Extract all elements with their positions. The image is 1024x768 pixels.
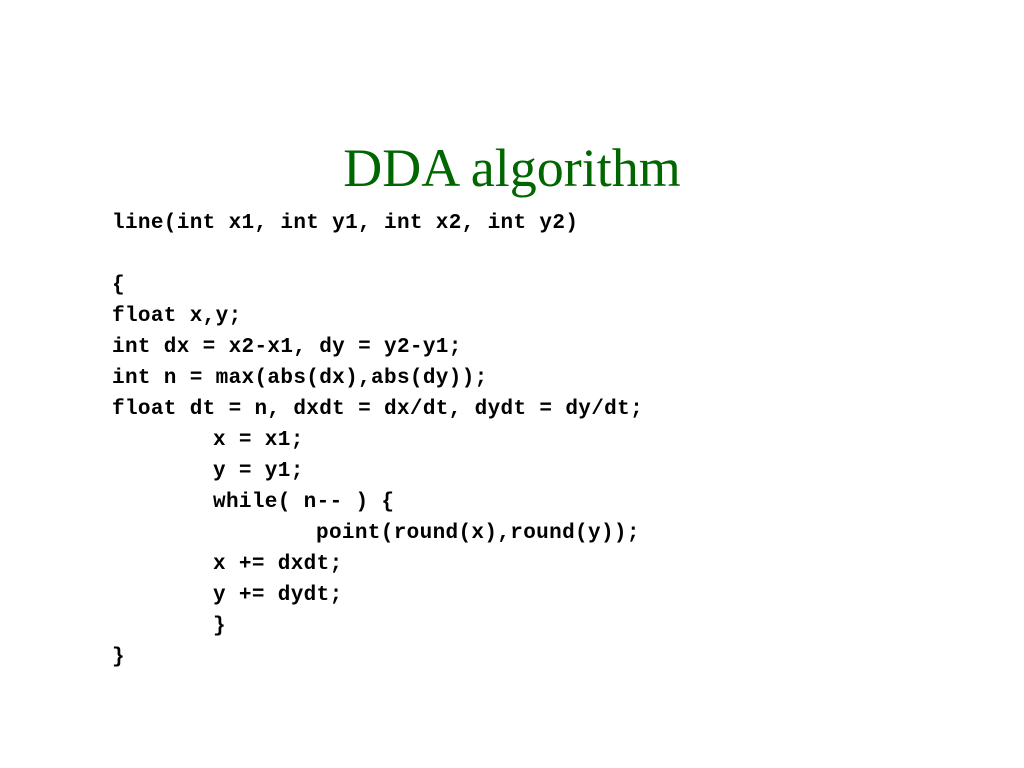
code-line: x = x1; (112, 425, 972, 456)
code-block: line(int x1, int y1, int x2, int y2){flo… (112, 208, 972, 673)
code-line-blank (112, 239, 972, 270)
code-line: int dx = x2-x1, dy = y2-y1; (112, 332, 972, 363)
code-line: line(int x1, int y1, int x2, int y2) (112, 208, 972, 239)
code-line: float x,y; (112, 301, 972, 332)
code-line: while( n-- ) { (112, 487, 972, 518)
code-line: int n = max(abs(dx),abs(dy)); (112, 363, 972, 394)
code-line: point(round(x),round(y)); (112, 518, 972, 549)
page-title: DDA algorithm (0, 136, 1024, 200)
code-line: { (112, 270, 972, 301)
code-line: } (112, 642, 972, 673)
code-line: } (112, 611, 972, 642)
presentation-slide: DDA algorithm line(int x1, int y1, int x… (0, 0, 1024, 768)
code-line: y += dydt; (112, 580, 972, 611)
code-line: y = y1; (112, 456, 972, 487)
code-line: x += dxdt; (112, 549, 972, 580)
code-line: float dt = n, dxdt = dx/dt, dydt = dy/dt… (112, 394, 972, 425)
